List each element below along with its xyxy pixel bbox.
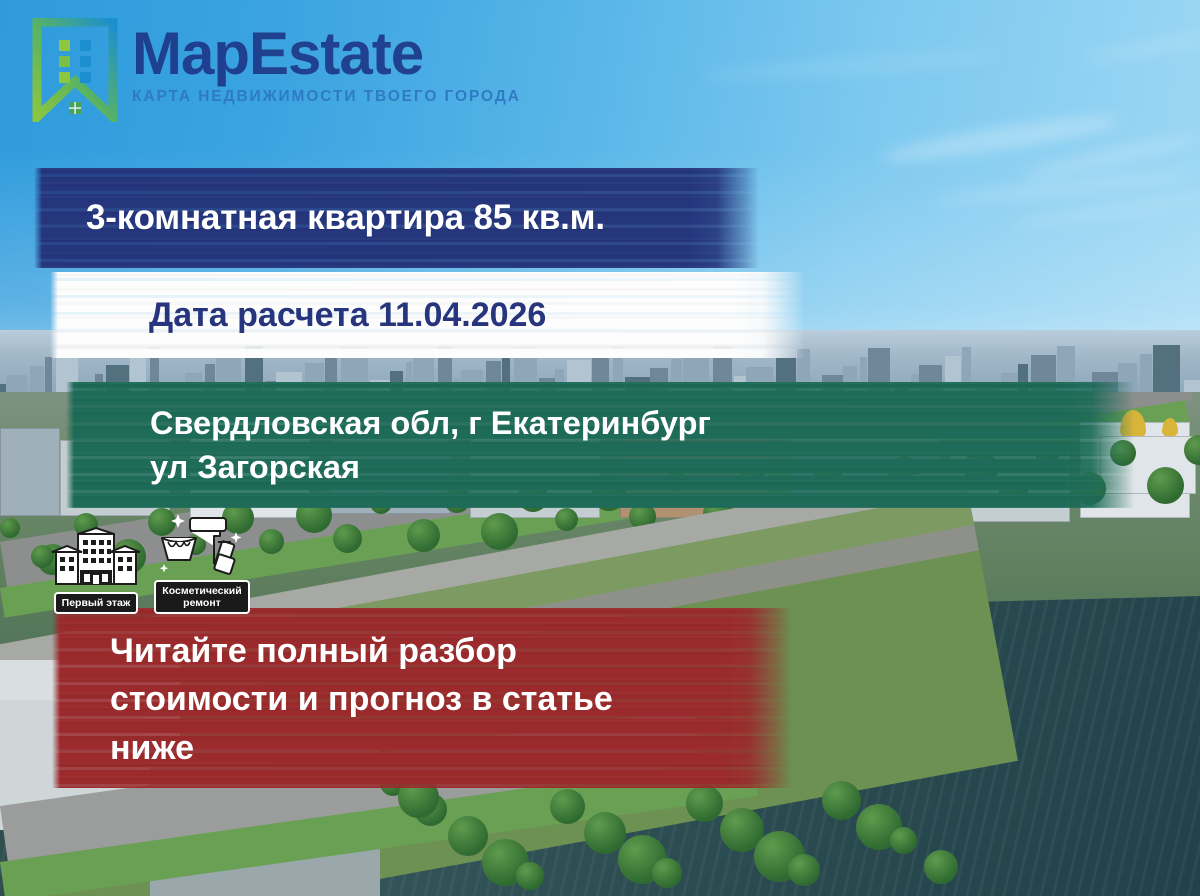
brand-tagline: КАРТА НЕДВИЖИМОСТИ ТВОЕГО ГОРОДА bbox=[132, 89, 521, 105]
badge-label: Первый этаж bbox=[54, 592, 139, 614]
badge-artwork bbox=[50, 524, 142, 590]
cloud-wisp bbox=[1010, 192, 1200, 230]
cta-banner: Читайте полный разбор стоимости и прогно… bbox=[52, 608, 792, 788]
apartment-building-icon bbox=[50, 526, 142, 590]
cta-line-1: Читайте полный разбор bbox=[110, 627, 613, 675]
badge-artwork bbox=[156, 512, 248, 578]
paint-roller-brush-icon bbox=[156, 512, 248, 578]
brand-title-map: Map bbox=[132, 20, 249, 87]
cta-line-2: стоимости и прогноз в статье bbox=[110, 675, 613, 723]
badge-cosmetic-renovation: Косметический ремонт bbox=[154, 512, 250, 614]
promo-card: MapEstate КАРТА НЕДВИЖИМОСТИ ТВОЕГО ГОРО… bbox=[0, 0, 1200, 896]
cloud-wisp bbox=[700, 48, 1000, 85]
property-title-banner: 3-комнатная квартира 85 кв.м. bbox=[34, 168, 759, 268]
cta-text: Читайте полный разбор стоимости и прогно… bbox=[110, 627, 613, 772]
badge-first-floor: Первый этаж bbox=[48, 524, 144, 614]
brand-wordmark: MapEstate КАРТА НЕДВИЖИМОСТИ ТВОЕГО ГОРО… bbox=[132, 18, 521, 105]
cloud-wisp bbox=[930, 168, 1190, 207]
bookmark-building-icon bbox=[32, 18, 118, 122]
brand-title: MapEstate bbox=[132, 24, 521, 84]
brand-logo[interactable]: MapEstate КАРТА НЕДВИЖИМОСТИ ТВОЕГО ГОРО… bbox=[32, 18, 521, 122]
calculation-date-banner: Дата расчета 11.04.2026 bbox=[50, 272, 805, 358]
address-line-street: ул Загорская bbox=[150, 446, 711, 490]
cta-line-3: ниже bbox=[110, 724, 613, 772]
feature-badges: Первый этаж bbox=[48, 512, 250, 614]
cloud-wisp bbox=[880, 109, 1120, 168]
address-line-region: Свердловская обл, г Екатеринбург bbox=[150, 402, 711, 446]
address-banner: Свердловская обл, г Екатеринбург ул Заго… bbox=[66, 382, 1134, 508]
brand-title-estate: Estate bbox=[249, 20, 423, 87]
cloud-wisp bbox=[1080, 26, 1200, 66]
address-text: Свердловская обл, г Екатеринбург ул Заго… bbox=[150, 402, 711, 490]
cloud-wisp bbox=[1021, 131, 1200, 182]
calculation-date-text: Дата расчета 11.04.2026 bbox=[149, 296, 546, 335]
badge-label: Косметический ремонт bbox=[154, 580, 249, 614]
property-title-text: 3-комнатная квартира 85 кв.м. bbox=[86, 198, 605, 238]
